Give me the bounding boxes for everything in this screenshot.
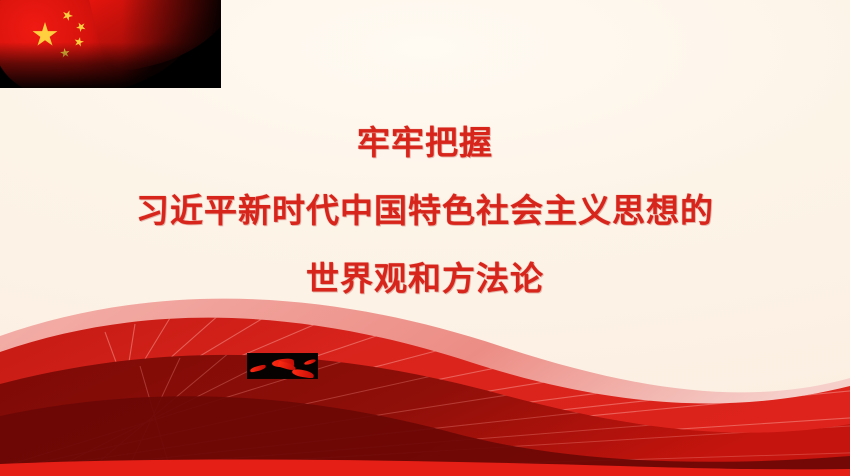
red-ribbon-photo <box>247 353 318 379</box>
title-line-1: 牢牢把握 <box>0 126 850 159</box>
ribbon-shape-1 <box>250 364 267 372</box>
slide-title: 牢牢把握 习近平新时代中国特色社会主义思想的 世界观和方法论 <box>0 126 850 295</box>
ribbon-shape-4 <box>292 368 315 378</box>
title-line-2: 习近平新时代中国特色社会主义思想的 <box>0 194 850 227</box>
title-line-3: 世界观和方法论 <box>0 262 850 295</box>
slide-canvas: 牢牢把握 习近平新时代中国特色社会主义思想的 世界观和方法论 <box>0 0 850 476</box>
flag-shadow-overlay <box>0 0 221 88</box>
red-wave-banner <box>0 266 850 476</box>
chinese-flag-photo <box>0 0 221 88</box>
ribbon-shape-5 <box>304 358 317 366</box>
